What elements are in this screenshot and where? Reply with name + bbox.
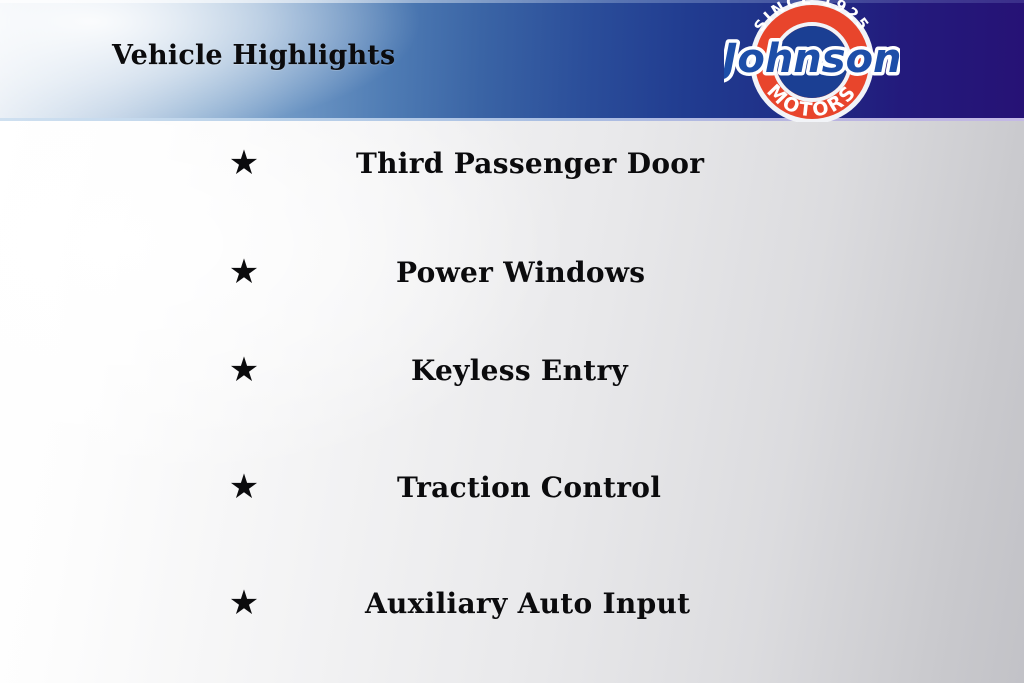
list-item: ★ Keyless Entry bbox=[0, 349, 1024, 393]
star-icon: ★ bbox=[227, 142, 261, 186]
feature-label: Third Passenger Door bbox=[356, 142, 1024, 186]
list-item: ★ Third Passenger Door bbox=[0, 142, 1024, 186]
feature-list: ★ Third Passenger Door ★ Power Windows ★… bbox=[0, 120, 1024, 683]
logo-wordmark: Johnson bbox=[724, 36, 900, 82]
page-title: Vehicle Highlights bbox=[112, 40, 395, 72]
feature-label: Traction Control bbox=[397, 466, 1024, 510]
star-icon: ★ bbox=[227, 251, 261, 295]
star-icon: ★ bbox=[227, 349, 261, 393]
feature-label: Auxiliary Auto Input bbox=[365, 582, 1024, 626]
list-item: ★ Power Windows bbox=[0, 251, 1024, 295]
list-item: ★ Traction Control bbox=[0, 466, 1024, 510]
johnson-motors-logo: SINCE 1925 MOTORS Johnson Johnson bbox=[724, 0, 900, 122]
feature-label: Power Windows bbox=[396, 251, 1024, 295]
feature-label: Keyless Entry bbox=[411, 349, 1024, 393]
star-icon: ★ bbox=[227, 582, 261, 626]
list-item: ★ Auxiliary Auto Input bbox=[0, 582, 1024, 626]
star-icon: ★ bbox=[227, 466, 261, 510]
vehicle-highlights-slide: Vehicle Highlights SINCE 1925 MOTORS bbox=[0, 0, 1024, 683]
